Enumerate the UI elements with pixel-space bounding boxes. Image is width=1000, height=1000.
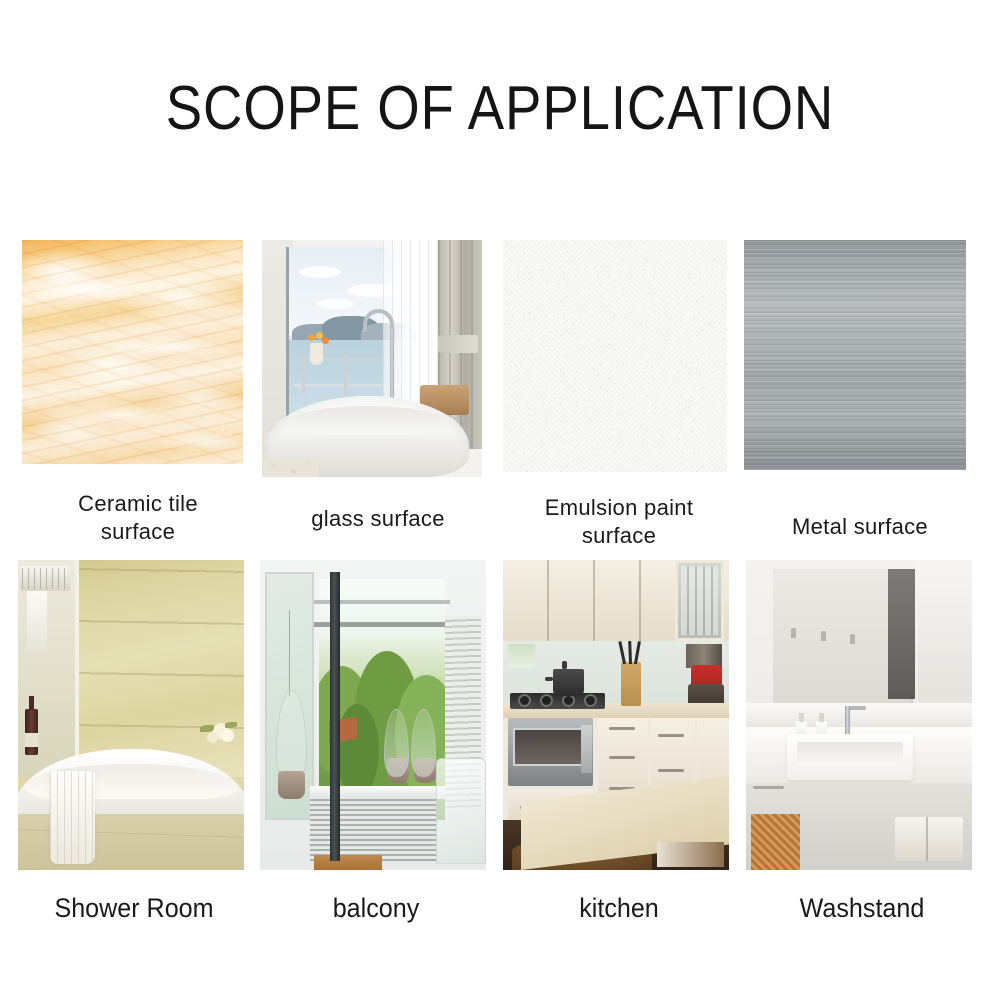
- flower-arrangement: [199, 721, 240, 758]
- rooms-row: Shower Room: [0, 560, 1000, 920]
- drawer-pull: [753, 786, 785, 789]
- grid-item-washstand: Washstand: [746, 560, 978, 920]
- hanging-towel: [27, 591, 47, 653]
- bottle-label: [25, 733, 39, 747]
- flower-vase: [310, 343, 323, 365]
- caption-balcony: balcony: [268, 892, 484, 924]
- caption-emulsion-paint: Emulsion paint surface: [503, 494, 735, 550]
- dark-column: [330, 572, 340, 860]
- plant-pot: [278, 771, 305, 799]
- shower-room-image: [18, 560, 244, 870]
- caption-kitchen: kitchen: [511, 892, 727, 924]
- mirror-reflection-dark: [888, 569, 915, 699]
- wicker-basket: [751, 814, 801, 870]
- square-basin: [787, 734, 914, 781]
- ceramic-tile-texture-image: [22, 240, 243, 464]
- right-wall-panel: [918, 560, 972, 709]
- window-reflection: [508, 644, 535, 669]
- rail-post: [302, 354, 305, 395]
- surfaces-row: Ceramic tile surface: [0, 240, 1000, 540]
- cooking-pot: [553, 669, 585, 697]
- cloud: [317, 299, 353, 309]
- wall-hook-icon: [791, 628, 796, 638]
- grid-item-shower-room: Shower Room: [18, 560, 250, 920]
- balcony-image: [260, 560, 486, 870]
- caption-ceramic-tile: Ceramic tile surface: [22, 490, 254, 546]
- rail-post: [344, 354, 347, 395]
- grid-item-glass-surface: glass surface: [262, 240, 494, 540]
- bathroom-glass-window-image: [262, 240, 482, 477]
- pendant-cord: [289, 610, 290, 697]
- grid-item-balcony: balcony: [260, 560, 492, 920]
- glass-front-cabinet: [675, 560, 725, 641]
- grid-item-kitchen: kitchen: [503, 560, 735, 920]
- caption-glass-surface: glass surface: [262, 505, 494, 533]
- page-title: SCOPE OF APPLICATION: [60, 78, 940, 140]
- curtain-tieback: [438, 335, 478, 353]
- grid-item-ceramic-tile: Ceramic tile surface: [22, 240, 254, 540]
- pebble-floor: [262, 458, 319, 477]
- grid-item-metal-surface: Metal surface: [744, 240, 976, 540]
- wall-hook-icon: [821, 631, 826, 641]
- infographic-page: SCOPE OF APPLICATION Ceramic tile surfac…: [0, 0, 1000, 1000]
- built-in-oven: [508, 718, 594, 786]
- towel-rack: [20, 566, 70, 591]
- caption-washstand: Washstand: [754, 892, 970, 924]
- kitchen-image: [503, 560, 729, 870]
- brushed-metal-texture-image: [744, 240, 966, 470]
- knife-block: [621, 662, 641, 705]
- wood-floor: [314, 855, 382, 871]
- cloud: [299, 266, 341, 278]
- transparent-chair: [436, 758, 486, 863]
- flowers: [308, 332, 330, 346]
- caption-metal-surface: Metal surface: [744, 513, 976, 541]
- draped-towel: [50, 771, 95, 864]
- oven-door-glass: [513, 728, 583, 766]
- oven-control-panel: [581, 725, 591, 773]
- wall-hook-icon: [850, 634, 855, 644]
- caption-shower-room: Shower Room: [26, 892, 242, 924]
- magazine: [657, 842, 725, 867]
- grid-item-emulsion-paint: Emulsion paint surface: [503, 240, 735, 540]
- rolled-towels: [895, 817, 963, 860]
- emulsion-paint-texture-image: [503, 240, 727, 472]
- wine-bottle: [25, 709, 39, 756]
- pot-handle: [545, 677, 554, 681]
- washstand-image: [746, 560, 972, 870]
